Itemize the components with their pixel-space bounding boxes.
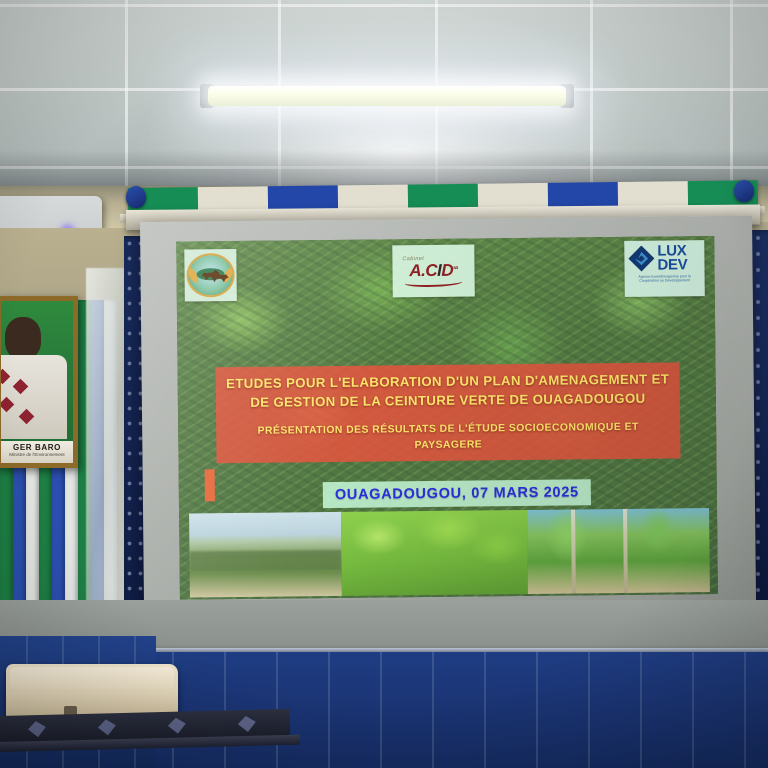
slide-date-band: OUAGADOUGOU, 07 MARS 2025 <box>323 479 591 508</box>
slide-date-text: OUAGADOUGOU, 07 MARS 2025 <box>335 484 579 503</box>
acid-swoosh <box>405 277 463 287</box>
banner-knot-right <box>734 180 754 202</box>
suspended-ceiling <box>0 0 768 196</box>
slide-title: ETUDES POUR L'ELABORATION D'UN PLAN D'AM… <box>222 370 674 412</box>
banner-knot-left <box>126 186 146 208</box>
burkina-faso-emblem-icon <box>184 249 237 302</box>
acid-logo: Cabinet A.CIDsa <box>392 245 475 298</box>
portrait-subtitle: Ministre de l'Environnement <box>1 452 73 457</box>
conference-room-photo: mediatech GER BARO Ministre de l'Environ… <box>0 0 768 768</box>
projector-top-panel <box>10 667 174 689</box>
projection-screen: Cabinet A.CIDsa LUX DEV Agence luxembour… <box>140 216 756 654</box>
photo-trees-water <box>527 508 710 594</box>
portrait-caption: GER BARO Ministre de l'Environnement <box>1 441 73 463</box>
slide-orange-marker <box>205 469 215 501</box>
slide-title-band: ETUDES POUR L'ELABORATION D'UN PLAN D'AM… <box>216 362 681 462</box>
slide-photo-strip <box>189 508 710 597</box>
photo-lake <box>189 512 342 598</box>
slide-subtitle: PRÉSENTATION DES RÉSULTATS DE L'ÉTUDE SO… <box>222 420 674 455</box>
photo-vegetation <box>341 510 528 596</box>
portrait-name: GER BARO <box>1 443 73 452</box>
luxdev-diamond-icon <box>628 245 654 271</box>
luxdev-subtitle: Agence luxembourgeoise pour la Coopérati… <box>625 272 705 284</box>
framed-portrait: GER BARO Ministre de l'Environnement <box>0 296 78 468</box>
portrait-body <box>0 355 67 439</box>
luxdev-logo: LUX DEV Agence luxembourgeoise pour la C… <box>624 240 705 297</box>
fluorescent-tube-light <box>208 86 566 106</box>
luxdev-line2: DEV <box>657 258 687 272</box>
portrait-head <box>5 317 41 359</box>
acid-wordmark: A.CIDsa <box>409 261 458 279</box>
presentation-slide: Cabinet A.CIDsa LUX DEV Agence luxembour… <box>176 236 718 600</box>
